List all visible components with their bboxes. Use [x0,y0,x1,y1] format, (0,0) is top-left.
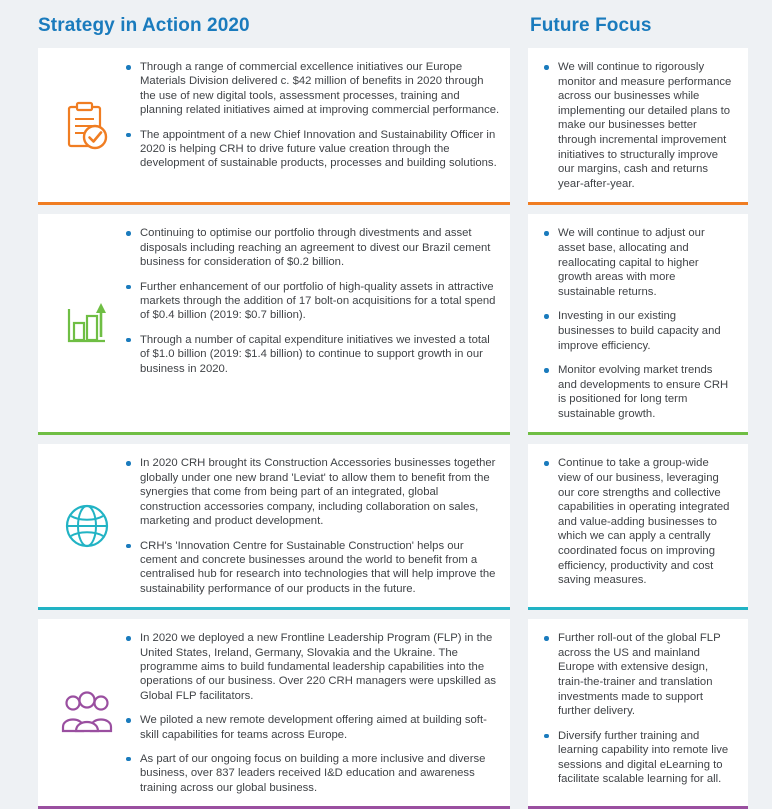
list-item: Through a range of commercial excellence… [124,60,500,118]
future-focus-card-4: Further roll-out of the global FLP acros… [528,619,748,809]
list-item: We will continue to rigorously monitor a… [542,60,734,191]
page-title-future-focus: Future Focus [530,14,748,38]
list-item: We will continue to adjust our asset bas… [542,226,734,299]
strategy-card-4: In 2020 we deployed a new Frontline Lead… [38,619,510,809]
future-focus-bullets-3: Continue to take a group-wide view of ou… [542,456,734,587]
report-page: Strategy in Action 2020 Future Focus [0,0,772,668]
list-item: Diversify further training and learning … [542,729,734,787]
strategy-bullets-3: In 2020 CRH brought its Construction Acc… [124,456,500,596]
page-title-strategy: Strategy in Action 2020 [38,14,510,38]
list-item: Investing in our existing businesses to … [542,309,734,353]
strategy-bullets-2: Continuing to optimise our portfolio thr… [124,226,500,376]
list-item: The appointment of a new Chief Innovatio… [124,128,500,171]
list-item: In 2020 we deployed a new Frontline Lead… [124,631,500,703]
list-item: Further roll-out of the global FLP acros… [542,631,734,719]
list-item: CRH's 'Innovation Centre for Sustainable… [124,539,500,597]
list-item: Monitor evolving market trends and devel… [542,363,734,421]
strategy-card-1: Through a range of commercial excellence… [38,48,510,205]
clipboard-check-icon [50,101,124,151]
list-item: In 2020 CRH brought its Construction Acc… [124,456,500,528]
row-commercial-excellence: Through a range of commercial excellence… [38,48,748,205]
future-focus-card-1: We will continue to rigorously monitor a… [528,48,748,205]
page-headers: Strategy in Action 2020 Future Focus [0,0,772,38]
row-global-businesses: In 2020 CRH brought its Construction Acc… [38,444,748,610]
list-item: As part of our ongoing focus on building… [124,752,500,795]
strategy-bullets-4: In 2020 we deployed a new Frontline Lead… [124,631,500,795]
strategy-bullets-1: Through a range of commercial excellence… [124,60,500,171]
portfolio-growth-arrow-icon [50,299,124,349]
future-focus-card-2: We will continue to adjust our asset bas… [528,214,748,435]
strategy-card-2: Continuing to optimise our portfolio thr… [38,214,510,435]
future-focus-bullets-1: We will continue to rigorously monitor a… [542,60,734,191]
list-item: We piloted a new remote development offe… [124,713,500,742]
list-item: Continuing to optimise our portfolio thr… [124,226,500,269]
list-item: Further enhancement of our portfolio of … [124,280,500,323]
right-column-header: Future Focus [510,14,748,38]
left-column-header: Strategy in Action 2020 [38,14,510,38]
future-focus-card-3: Continue to take a group-wide view of ou… [528,444,748,610]
globe-icon [50,502,124,550]
row-portfolio: Continuing to optimise our portfolio thr… [38,214,748,435]
row-people: In 2020 we deployed a new Frontline Lead… [38,619,748,809]
future-focus-bullets-2: We will continue to adjust our asset bas… [542,226,734,421]
future-focus-bullets-4: Further roll-out of the global FLP acros… [542,631,734,787]
list-item: Through a number of capital expenditure … [124,333,500,376]
list-item: Continue to take a group-wide view of ou… [542,456,734,587]
strategy-card-3: In 2020 CRH brought its Construction Acc… [38,444,510,610]
people-group-icon [50,691,124,735]
content-rows: Through a range of commercial excellence… [0,38,772,809]
